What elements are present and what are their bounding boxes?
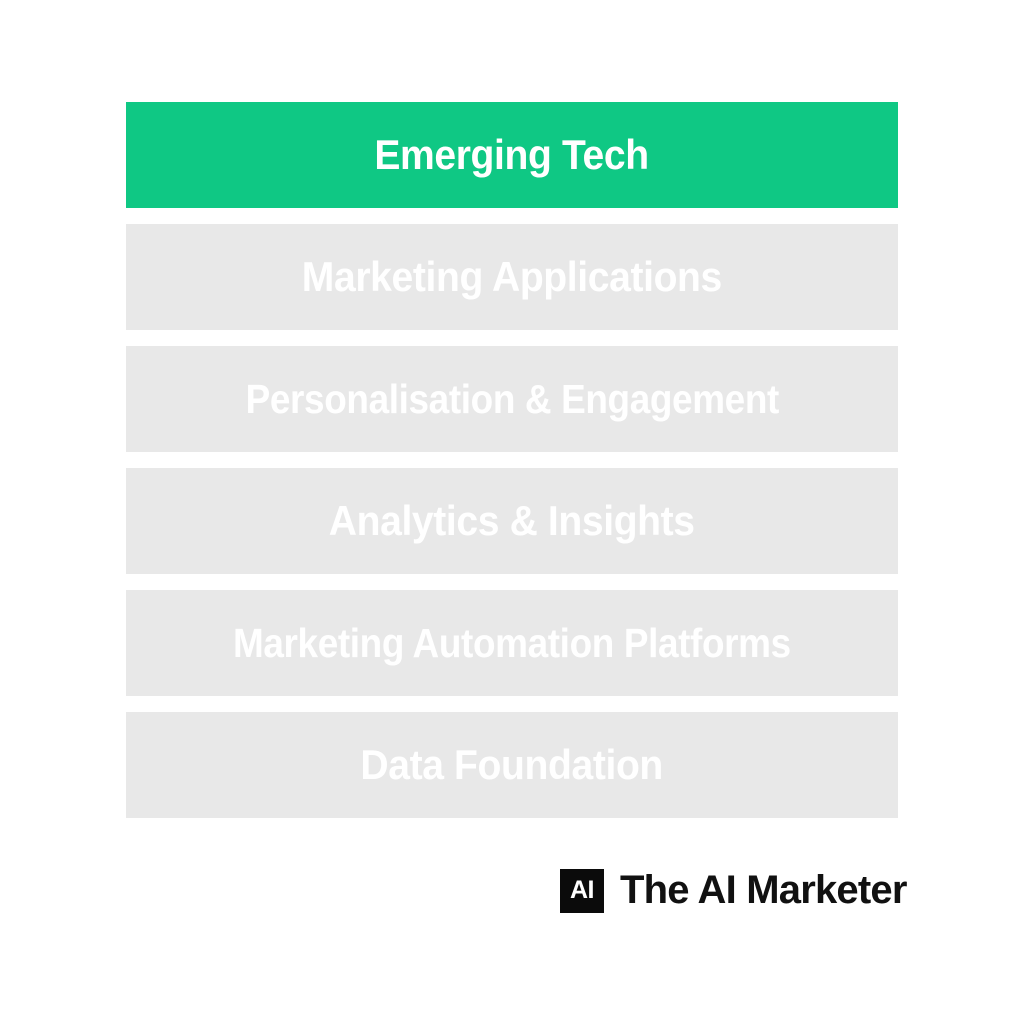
stack-layer-2[interactable]: Marketing Applications	[126, 224, 898, 330]
stack-layer-label: Personalisation & Engagement	[245, 379, 778, 420]
brand-mark-label: AI	[570, 878, 594, 903]
stack-layer-label: Analytics & Insights	[329, 500, 695, 542]
tech-stack-layers: Emerging TechMarketing ApplicationsPerso…	[126, 102, 898, 818]
stack-layer-3[interactable]: Personalisation & Engagement	[126, 346, 898, 452]
stack-layer-label: Marketing Automation Platforms	[233, 623, 791, 664]
stack-layer-label: Data Foundation	[361, 744, 664, 786]
stack-layer-1[interactable]: Emerging Tech	[126, 102, 898, 208]
stack-layer-label: Marketing Applications	[302, 256, 722, 298]
stack-layer-4[interactable]: Analytics & Insights	[126, 468, 898, 574]
stack-layer-5[interactable]: Marketing Automation Platforms	[126, 590, 898, 696]
stack-layer-6[interactable]: Data Foundation	[126, 712, 898, 818]
slide-canvas: Emerging TechMarketing ApplicationsPerso…	[0, 0, 1024, 1024]
brand-mark-icon: AI	[560, 869, 604, 913]
brand-name: The AI Marketer	[620, 870, 907, 910]
brand-lockup: AI The AI Marketer	[560, 869, 907, 913]
stack-layer-label: Emerging Tech	[375, 134, 649, 176]
